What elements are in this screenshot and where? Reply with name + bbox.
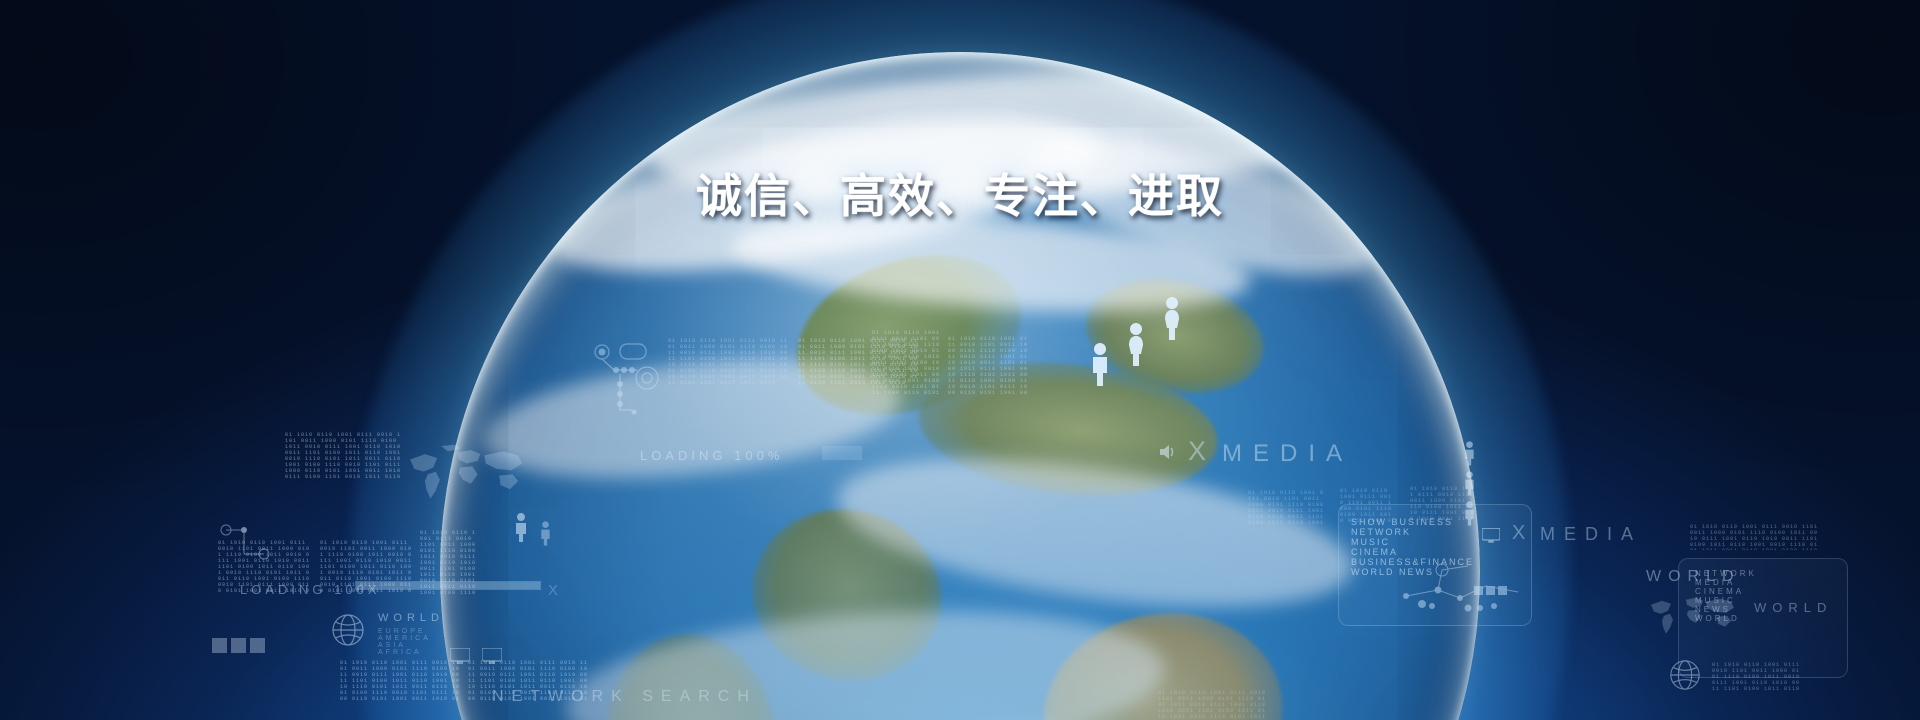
code-block: 01 1010 0110 1001 0111 0010 1101 0011 10… xyxy=(285,432,403,494)
code-block: 01 1010 0110 1001 0111 0010 1101 0011 10… xyxy=(1158,690,1268,718)
monitor-icon xyxy=(1482,528,1500,548)
region-item: EUROPE xyxy=(378,628,431,635)
world-map-graphic xyxy=(398,440,533,512)
person-icon xyxy=(538,520,553,551)
category-item[interactable]: MUSIC xyxy=(1351,537,1531,547)
region-item: AMERICA xyxy=(378,635,431,642)
code-block: 01 1010 0110 1001 0111 0010 1101 0011 10… xyxy=(668,338,788,396)
speaker-icon xyxy=(1158,442,1178,467)
page-title: 诚信、高效、专注、进取 xyxy=(0,160,1920,226)
region-item: AFRICA xyxy=(378,649,431,656)
code-block: 01 1010 0110 1001 0111 0010 1101 0011 10… xyxy=(468,660,588,702)
progress-bar xyxy=(355,581,541,590)
square-indicators xyxy=(212,638,266,661)
region-item: ASIA xyxy=(378,642,431,649)
loading-label-top: LOADING 100% xyxy=(640,448,783,463)
person-icon xyxy=(1124,322,1148,371)
code-block: 01 1010 0110 1001 0111 0010 1101 0011 10… xyxy=(1690,524,1820,550)
code-block: 01 1010 0110 1001 0111 0010 1101 0011 10… xyxy=(948,336,1030,394)
category-item[interactable]: SHOW BUSINESS xyxy=(1351,517,1531,527)
node-icon xyxy=(592,340,662,425)
media-label-right: MEDIA xyxy=(1540,524,1642,545)
world-label-right-a: WORLD xyxy=(1646,568,1741,586)
person-icon xyxy=(512,512,530,547)
x-glyph-media-right: X xyxy=(1512,522,1534,545)
person-icon xyxy=(1088,342,1112,391)
region-list: EUROPE AMERICA ASIA AFRICA xyxy=(378,628,431,656)
banner-stage: 01 1010 0110 1001 0111 0010 1101 0011 10… xyxy=(0,0,1920,720)
node-icon xyxy=(218,520,278,571)
code-block: 01 1010 0110 1001 0111 0010 1101 0011 10… xyxy=(872,330,940,396)
x-glyph: X xyxy=(548,582,562,599)
person-icon xyxy=(1160,296,1184,345)
node-icon xyxy=(1398,556,1528,631)
world-label-right-b: WORLD xyxy=(1754,600,1832,615)
person-icon xyxy=(1462,440,1477,471)
world-label-left: WORLD xyxy=(378,612,444,624)
loading-indicator xyxy=(822,446,862,460)
code-block: 01 1010 0110 1001 0111 0010 1101 0011 10… xyxy=(1712,662,1802,692)
globe-icon xyxy=(330,612,366,653)
category-item[interactable]: NETWORK xyxy=(1351,527,1531,537)
x-glyph-media: X xyxy=(1188,436,1217,467)
globe-icon xyxy=(1668,658,1702,697)
code-block: 01 1010 0110 1001 0111 0010 1101 0011 10… xyxy=(340,660,460,702)
progress-bar-fill xyxy=(356,582,540,589)
media-label-center: MEDIA xyxy=(1222,440,1353,468)
world-map-graphic-right xyxy=(1642,590,1742,644)
code-block: 01 1010 0110 1001 0111 0010 1101 0011 10… xyxy=(1248,490,1326,524)
